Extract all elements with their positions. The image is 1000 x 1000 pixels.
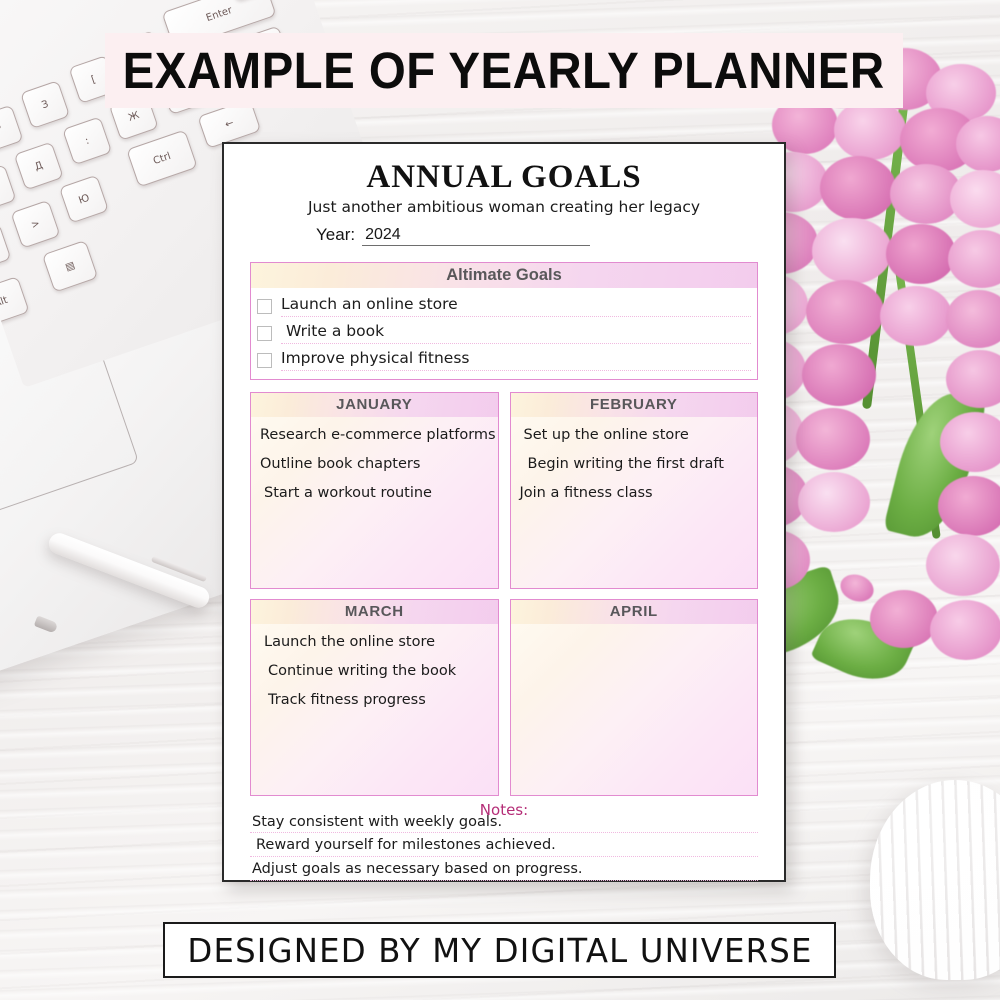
goal-text[interactable]: Write a book <box>281 323 751 344</box>
goal-row[interactable]: Launch an online store <box>257 293 751 320</box>
key-z: З <box>20 80 70 129</box>
key-d: Д <box>14 142 64 191</box>
month-task[interactable]: Track fitness progress <box>260 692 489 708</box>
bottom-banner-text: DESIGNED BY MY DIGITAL UNIVERSE <box>187 931 812 970</box>
month-card-march: MARCH Launch the online store Continue w… <box>250 599 499 796</box>
month-card-april: APRIL <box>510 599 759 796</box>
goal-text[interactable]: Launch an online store <box>281 296 751 317</box>
month-task[interactable]: Launch the online store <box>260 634 489 650</box>
key-menu: ▤ <box>42 240 99 293</box>
month-body[interactable] <box>511 624 758 795</box>
months-grid: JANUARY Research e-commerce platforms Ou… <box>250 392 758 796</box>
key-gt: > <box>10 200 60 249</box>
month-header: FEBRUARY <box>511 393 758 417</box>
key-yu: Ю <box>59 175 109 224</box>
checkbox-icon[interactable] <box>257 353 272 368</box>
month-task[interactable]: Research e-commerce platforms <box>260 427 489 443</box>
scene-background: Р З [ Х Enter Л Д : Ж ? Б > Ю Ctrl ← Alt… <box>0 0 1000 1000</box>
ultimate-goals-header: Altimate Goals <box>251 263 757 288</box>
month-body[interactable]: Launch the online store Continue writing… <box>251 624 498 795</box>
checkbox-icon[interactable] <box>257 299 272 314</box>
ribbed-vase <box>870 780 1000 980</box>
ultimate-goals-list: Launch an online store Write a book Impr… <box>251 288 757 379</box>
goal-text[interactable]: Improve physical fitness <box>281 350 751 371</box>
checkbox-icon[interactable] <box>257 326 272 341</box>
month-task[interactable]: Start a workout routine <box>260 485 489 501</box>
month-task[interactable]: Set up the online store <box>520 427 749 443</box>
key-b: Б <box>0 223 11 272</box>
month-header: MARCH <box>251 600 498 624</box>
year-row: Year: 2024 <box>316 225 758 246</box>
note-line[interactable]: Adjust goals as necessary based on progr… <box>250 857 758 881</box>
month-header: JANUARY <box>251 393 498 417</box>
goal-row[interactable]: Write a book <box>257 320 751 347</box>
month-card-february: FEBRUARY Set up the online store Begin w… <box>510 392 759 589</box>
key-p: Р <box>0 105 24 154</box>
month-header: APRIL <box>511 600 758 624</box>
month-task[interactable]: Continue writing the book <box>260 663 489 679</box>
page-title: ANNUAL GOALS <box>250 160 758 196</box>
top-banner: EXAMPLE OF YEARLY PLANNER <box>105 33 903 108</box>
bottom-banner: DESIGNED BY MY DIGITAL UNIVERSE <box>163 922 836 978</box>
month-card-january: JANUARY Research e-commerce platforms Ou… <box>250 392 499 589</box>
lilac-flowers <box>750 60 1000 680</box>
key-ctrl: Ctrl <box>126 129 198 187</box>
top-banner-text: EXAMPLE OF YEARLY PLANNER <box>123 41 885 100</box>
year-label: Year: <box>316 225 355 246</box>
page-subtitle: Just another ambitious woman creating he… <box>250 198 758 216</box>
key-l: Л <box>0 164 17 213</box>
month-task[interactable]: Outline book chapters <box>260 456 489 472</box>
ultimate-goals-block: Altimate Goals Launch an online store Wr… <box>250 262 758 380</box>
month-body[interactable]: Research e-commerce platforms Outline bo… <box>251 417 498 588</box>
month-body[interactable]: Set up the online store Begin writing th… <box>511 417 758 588</box>
notes-section: Notes: Stay consistent with weekly goals… <box>250 803 758 881</box>
planner-sheet: ANNUAL GOALS Just another ambitious woma… <box>222 142 786 882</box>
key-alt: Alt <box>0 276 30 328</box>
key-colon: : <box>62 116 112 165</box>
month-task[interactable]: Join a fitness class <box>520 485 749 501</box>
month-task[interactable]: Begin writing the first draft <box>520 456 749 472</box>
note-line[interactable]: Reward yourself for milestones achieved. <box>250 833 758 857</box>
year-input[interactable]: 2024 <box>362 226 590 246</box>
goal-row[interactable]: Improve physical fitness <box>257 347 751 374</box>
